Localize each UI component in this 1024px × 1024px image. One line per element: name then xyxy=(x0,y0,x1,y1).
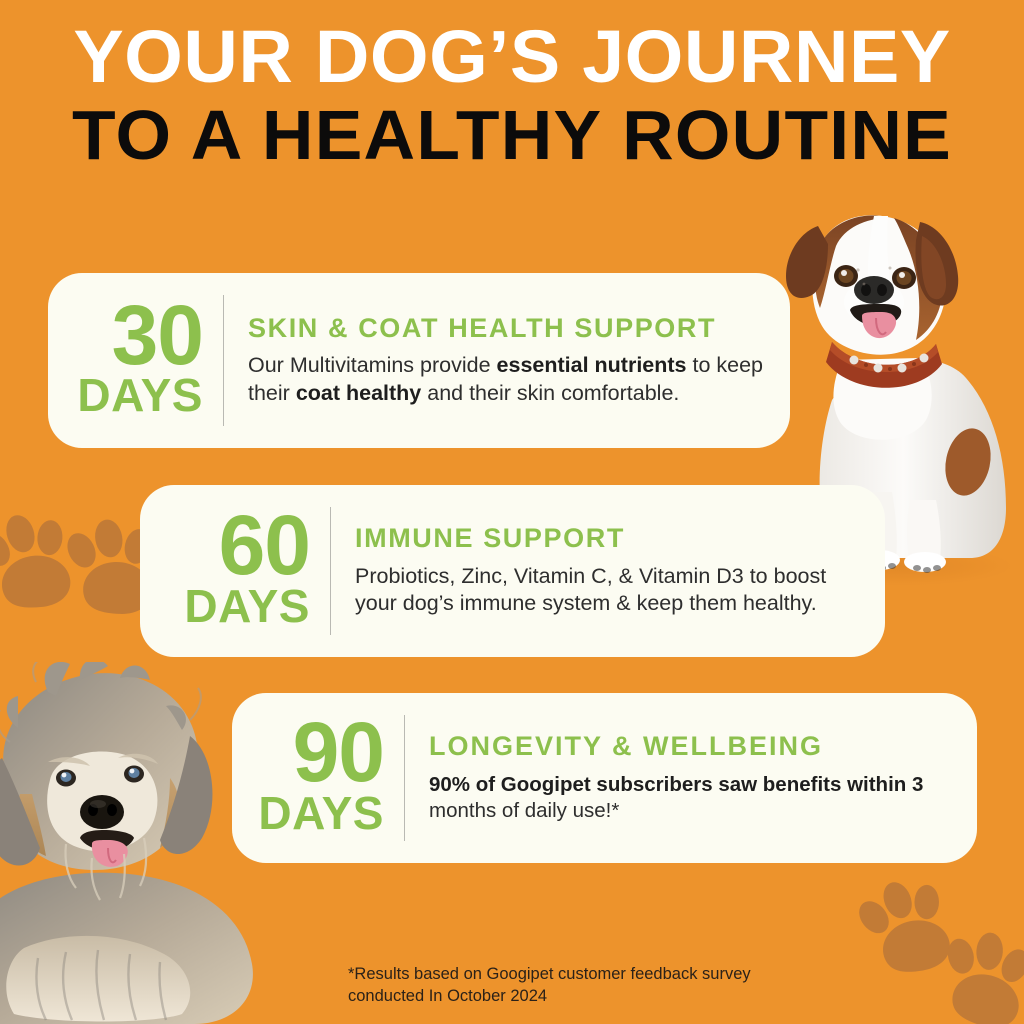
card-body: Our Multivitamins provide essential nutr… xyxy=(248,352,772,407)
card-text-block: LONGEVITY & WELLBEING 90% of Googipet su… xyxy=(405,693,977,863)
benefit-card-90-days: 90 DAYS LONGEVITY & WELLBEING 90% of Goo… xyxy=(232,693,977,863)
card-heading: IMMUNE SUPPORT xyxy=(355,524,867,552)
paw-print-icon xyxy=(932,924,1024,1024)
days-badge-90: 90 DAYS xyxy=(232,693,404,863)
days-badge-60: 60 DAYS xyxy=(140,485,330,657)
card-heading: LONGEVITY & WELLBEING xyxy=(429,732,959,760)
footnote-disclaimer: *Results based on Googipet customer feed… xyxy=(348,963,868,1007)
benefit-card-30-days: 30 DAYS SKIN & COAT HEALTH SUPPORT Our M… xyxy=(48,273,790,448)
footnote-line-2: conducted In October 2024 xyxy=(348,985,868,1007)
page-title: YOUR DOG’S JOURNEY TO A HEALTHY ROUTINE xyxy=(0,22,1024,169)
days-label: DAYS xyxy=(258,790,384,836)
days-number: 60 xyxy=(219,513,310,579)
footnote-line-1: *Results based on Googipet customer feed… xyxy=(348,963,868,985)
benefit-card-60-days: 60 DAYS IMMUNE SUPPORT Probiotics, Zinc,… xyxy=(140,485,885,657)
card-body: 90% of Googipet subscribers saw benefits… xyxy=(429,772,959,824)
headline-line-1: YOUR DOG’S JOURNEY xyxy=(0,22,1024,92)
card-text-block: IMMUNE SUPPORT Probiotics, Zinc, Vitamin… xyxy=(331,485,885,657)
days-number: 90 xyxy=(293,720,384,786)
card-body: Probiotics, Zinc, Vitamin C, & Vitamin D… xyxy=(355,563,867,618)
days-badge-30: 30 DAYS xyxy=(48,273,223,448)
days-label: DAYS xyxy=(184,583,310,629)
paw-print-icon xyxy=(0,503,92,626)
days-label: DAYS xyxy=(77,372,203,418)
card-heading: SKIN & COAT HEALTH SUPPORT xyxy=(248,314,772,342)
card-text-block: SKIN & COAT HEALTH SUPPORT Our Multivita… xyxy=(224,273,790,448)
days-number: 30 xyxy=(112,303,203,369)
paw-print-icon xyxy=(850,866,972,991)
headline-line-2: TO A HEALTHY ROUTINE xyxy=(0,102,1024,169)
poster-canvas: YOUR DOG’S JOURNEY TO A HEALTHY ROUTINE xyxy=(0,0,1024,1024)
